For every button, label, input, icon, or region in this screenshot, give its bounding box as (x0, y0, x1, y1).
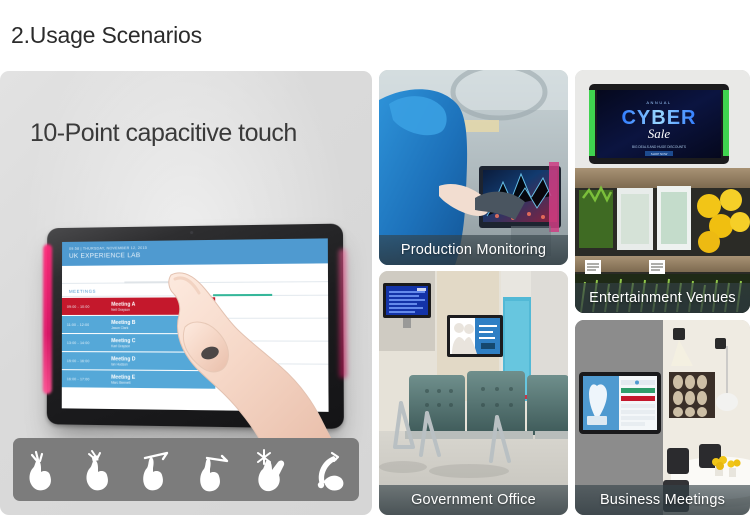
list-item[interactable]: 11:00 - 12:00 Meeting B Jason Clark (62, 316, 215, 334)
wall-mounted-tablet: 09:58 | THURSDAY, NOVEMBER 12, 2015 UK E… (47, 224, 344, 429)
tap-gesture-icon (22, 448, 62, 492)
card-caption: Entertainment Venues (575, 283, 750, 313)
availability-bar (213, 294, 272, 296)
meeting-time: 16:00 - 17:00 (62, 377, 111, 381)
placeholder-bar (124, 281, 181, 283)
svg-text:SHOP NOW: SHOP NOW (651, 152, 668, 156)
list-item[interactable]: 15:00 - 16:00 Meeting D Ian Hudson (62, 352, 215, 371)
meeting-owner: Jason Clark (111, 325, 215, 329)
svg-text:Sale: Sale (648, 126, 671, 141)
card-caption: Business Meetings (575, 485, 750, 515)
card-caption: Production Monitoring (379, 235, 568, 265)
photo-entertainment-venues: ANNUAL CYBER Sale BIG DEALS AND HUGE DIS… (575, 70, 750, 313)
drag-gesture-icon (195, 448, 235, 492)
page-title: 2.Usage Scenarios (11, 22, 202, 49)
meeting-time: 13:00 - 14:00 (62, 341, 111, 345)
touch-showcase-panel: 10-Point capacitive touch 09:58 | THURSD… (0, 71, 372, 515)
svg-text:BIG DEALS AND HUGE DISCOUNTS: BIG DEALS AND HUGE DISCOUNTS (632, 145, 686, 149)
swipe-gesture-icon (137, 448, 177, 492)
meetings-list[interactable]: 09:00 - 10:00 Meeting A Neil Grayson 11:… (62, 297, 216, 390)
front-camera-icon (190, 231, 193, 234)
gesture-legend-bar (13, 438, 359, 501)
double-tap-gesture-icon (79, 448, 119, 492)
led-glow-left (43, 244, 52, 394)
meeting-owner: Neil Grayson (111, 307, 215, 311)
list-item[interactable]: 09:00 - 10:00 Meeting A Neil Grayson (62, 297, 215, 316)
scenario-card-production[interactable]: Production Monitoring (379, 70, 568, 265)
tablet-screen: 09:58 | THURSDAY, NOVEMBER 12, 2015 UK E… (62, 238, 329, 412)
slide-root: 2.Usage Scenarios 10-Point capacitive to… (0, 0, 750, 515)
meetings-label: MEETINGS (69, 289, 96, 294)
meeting-owner: Karl Grayson (111, 344, 215, 348)
scenario-card-entertainment[interactable]: ANNUAL CYBER Sale BIG DEALS AND HUGE DIS… (575, 70, 750, 313)
meeting-owner: Marc Bennett (111, 380, 215, 385)
scenario-card-business[interactable]: Business Meetings (575, 320, 750, 515)
showcase-heading: 10-Point capacitive touch (30, 119, 297, 148)
led-glow-right (339, 249, 347, 379)
scenario-card-government[interactable]: Government Office (379, 271, 568, 515)
svg-text:ANNUAL: ANNUAL (646, 100, 671, 105)
list-item[interactable]: 13:00 - 14:00 Meeting C Karl Grayson (62, 334, 215, 353)
photo-government-office (379, 271, 568, 515)
list-item[interactable]: 16:00 - 17:00 Meeting E Marc Bennett (62, 370, 216, 390)
card-caption: Government Office (379, 485, 568, 515)
meeting-time: 11:00 - 12:00 (62, 322, 111, 326)
rotate-gesture-icon (310, 448, 350, 492)
screen-header: 09:58 | THURSDAY, NOVEMBER 12, 2015 UK E… (62, 238, 328, 266)
screen-body: MEETINGS 09:00 - 10:00 Meeting A Neil Gr… (62, 263, 329, 391)
meeting-owner: Ian Hudson (111, 362, 215, 367)
meeting-time: 09:00 - 10:00 (62, 304, 111, 308)
pinch-gesture-icon (252, 448, 292, 492)
meeting-time: 15:00 - 16:00 (62, 359, 111, 363)
